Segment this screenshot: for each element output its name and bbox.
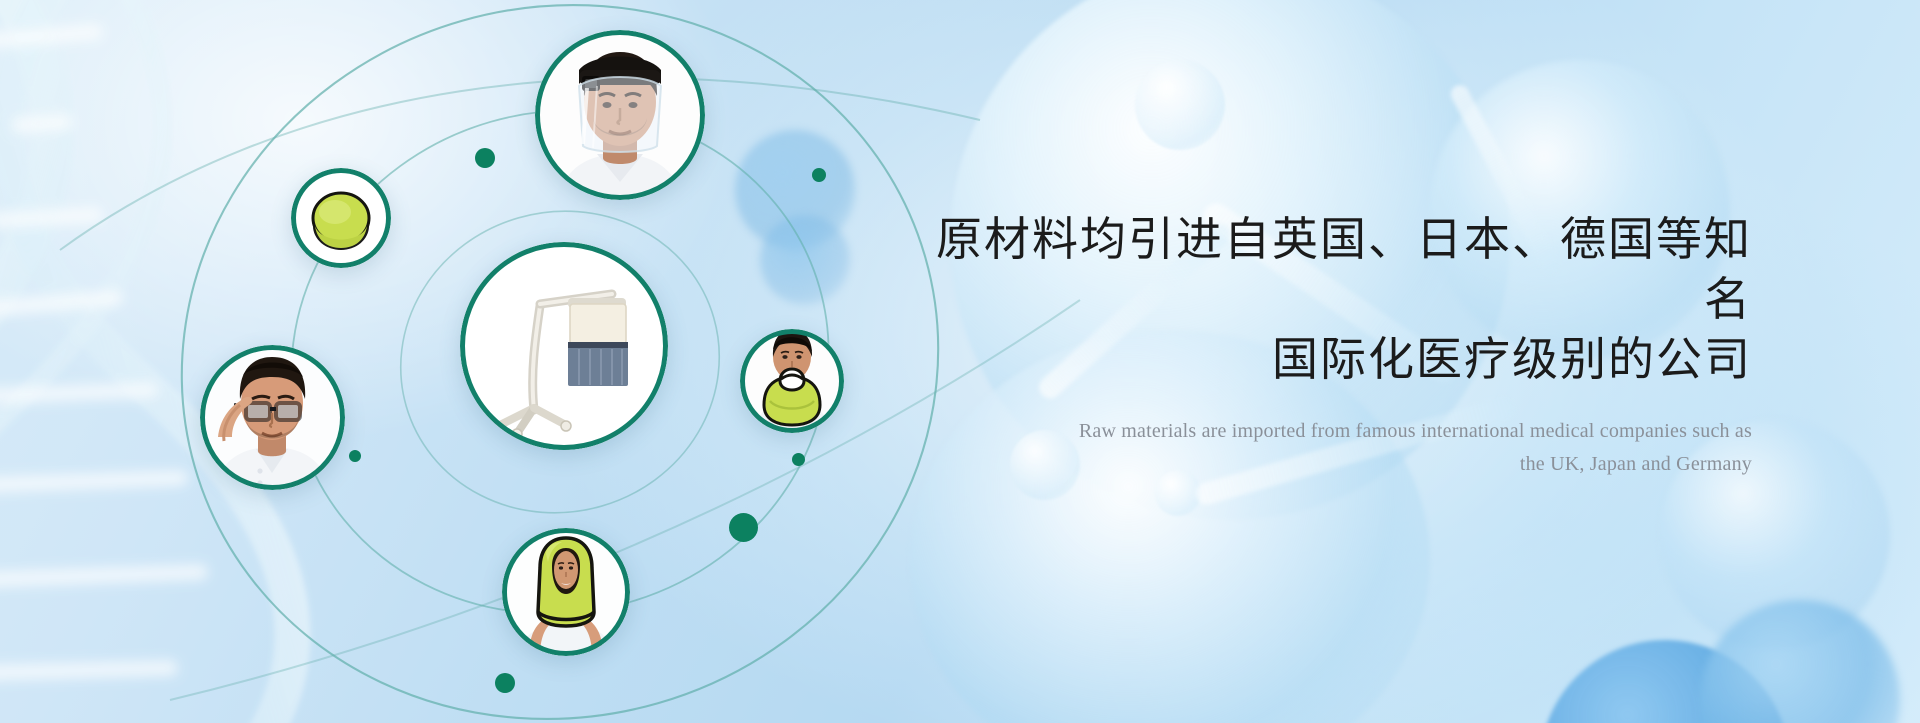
bubble-ring bbox=[740, 329, 844, 433]
headline-line-1: 原材料均引进自英国、日本、德国等知名 bbox=[936, 212, 1752, 326]
accent-dot-1 bbox=[475, 148, 495, 168]
accent-dot-5 bbox=[729, 513, 758, 542]
accent-dot-2 bbox=[812, 168, 826, 182]
thyroid-collar-photo[interactable] bbox=[740, 329, 844, 433]
banner-headline: 原材料均引进自英国、日本、德国等知名 国际化医疗级别的公司 bbox=[932, 210, 1752, 389]
mobile-x-ray-barrier-product-photo[interactable] bbox=[460, 242, 668, 450]
doctor-glasses-photo[interactable] bbox=[200, 345, 345, 490]
molecule-sphere-blue-accent bbox=[1540, 640, 1790, 723]
accent-dot-4 bbox=[792, 453, 805, 466]
bubble-ring bbox=[502, 528, 630, 656]
protective-hood-photo[interactable] bbox=[502, 528, 630, 656]
accent-dot-3 bbox=[349, 450, 361, 462]
subtitle-line-2: the UK, Japan and Germany bbox=[1520, 453, 1752, 475]
banner-copy: 原材料均引进自英国、日本、德国等知名 国际化医疗级别的公司 Raw materi… bbox=[932, 210, 1752, 480]
bubble-ring bbox=[460, 242, 668, 450]
molecule-shadow-2 bbox=[760, 215, 850, 305]
bubble-ring bbox=[291, 168, 391, 268]
molecule-sphere-blue-accent-2 bbox=[1700, 600, 1900, 723]
hero-banner: 原材料均引进自英国、日本、德国等知名 国际化医疗级别的公司 Raw materi… bbox=[0, 0, 1920, 723]
x-ray-protective-face-shield-photo[interactable] bbox=[535, 30, 705, 200]
accent-dot-6 bbox=[495, 673, 515, 693]
bubble-ring bbox=[535, 30, 705, 200]
subtitle-line-1: Raw materials are imported from famous i… bbox=[1079, 420, 1752, 442]
lead-cap-product-photo[interactable] bbox=[291, 168, 391, 268]
molecule-highlight-1 bbox=[1135, 60, 1225, 150]
bubble-ring bbox=[200, 345, 345, 490]
molecule-shadow-1 bbox=[735, 130, 855, 250]
headline-line-2: 国际化医疗级别的公司 bbox=[932, 330, 1752, 390]
banner-subtitle: Raw materials are imported from famous i… bbox=[932, 415, 1752, 480]
